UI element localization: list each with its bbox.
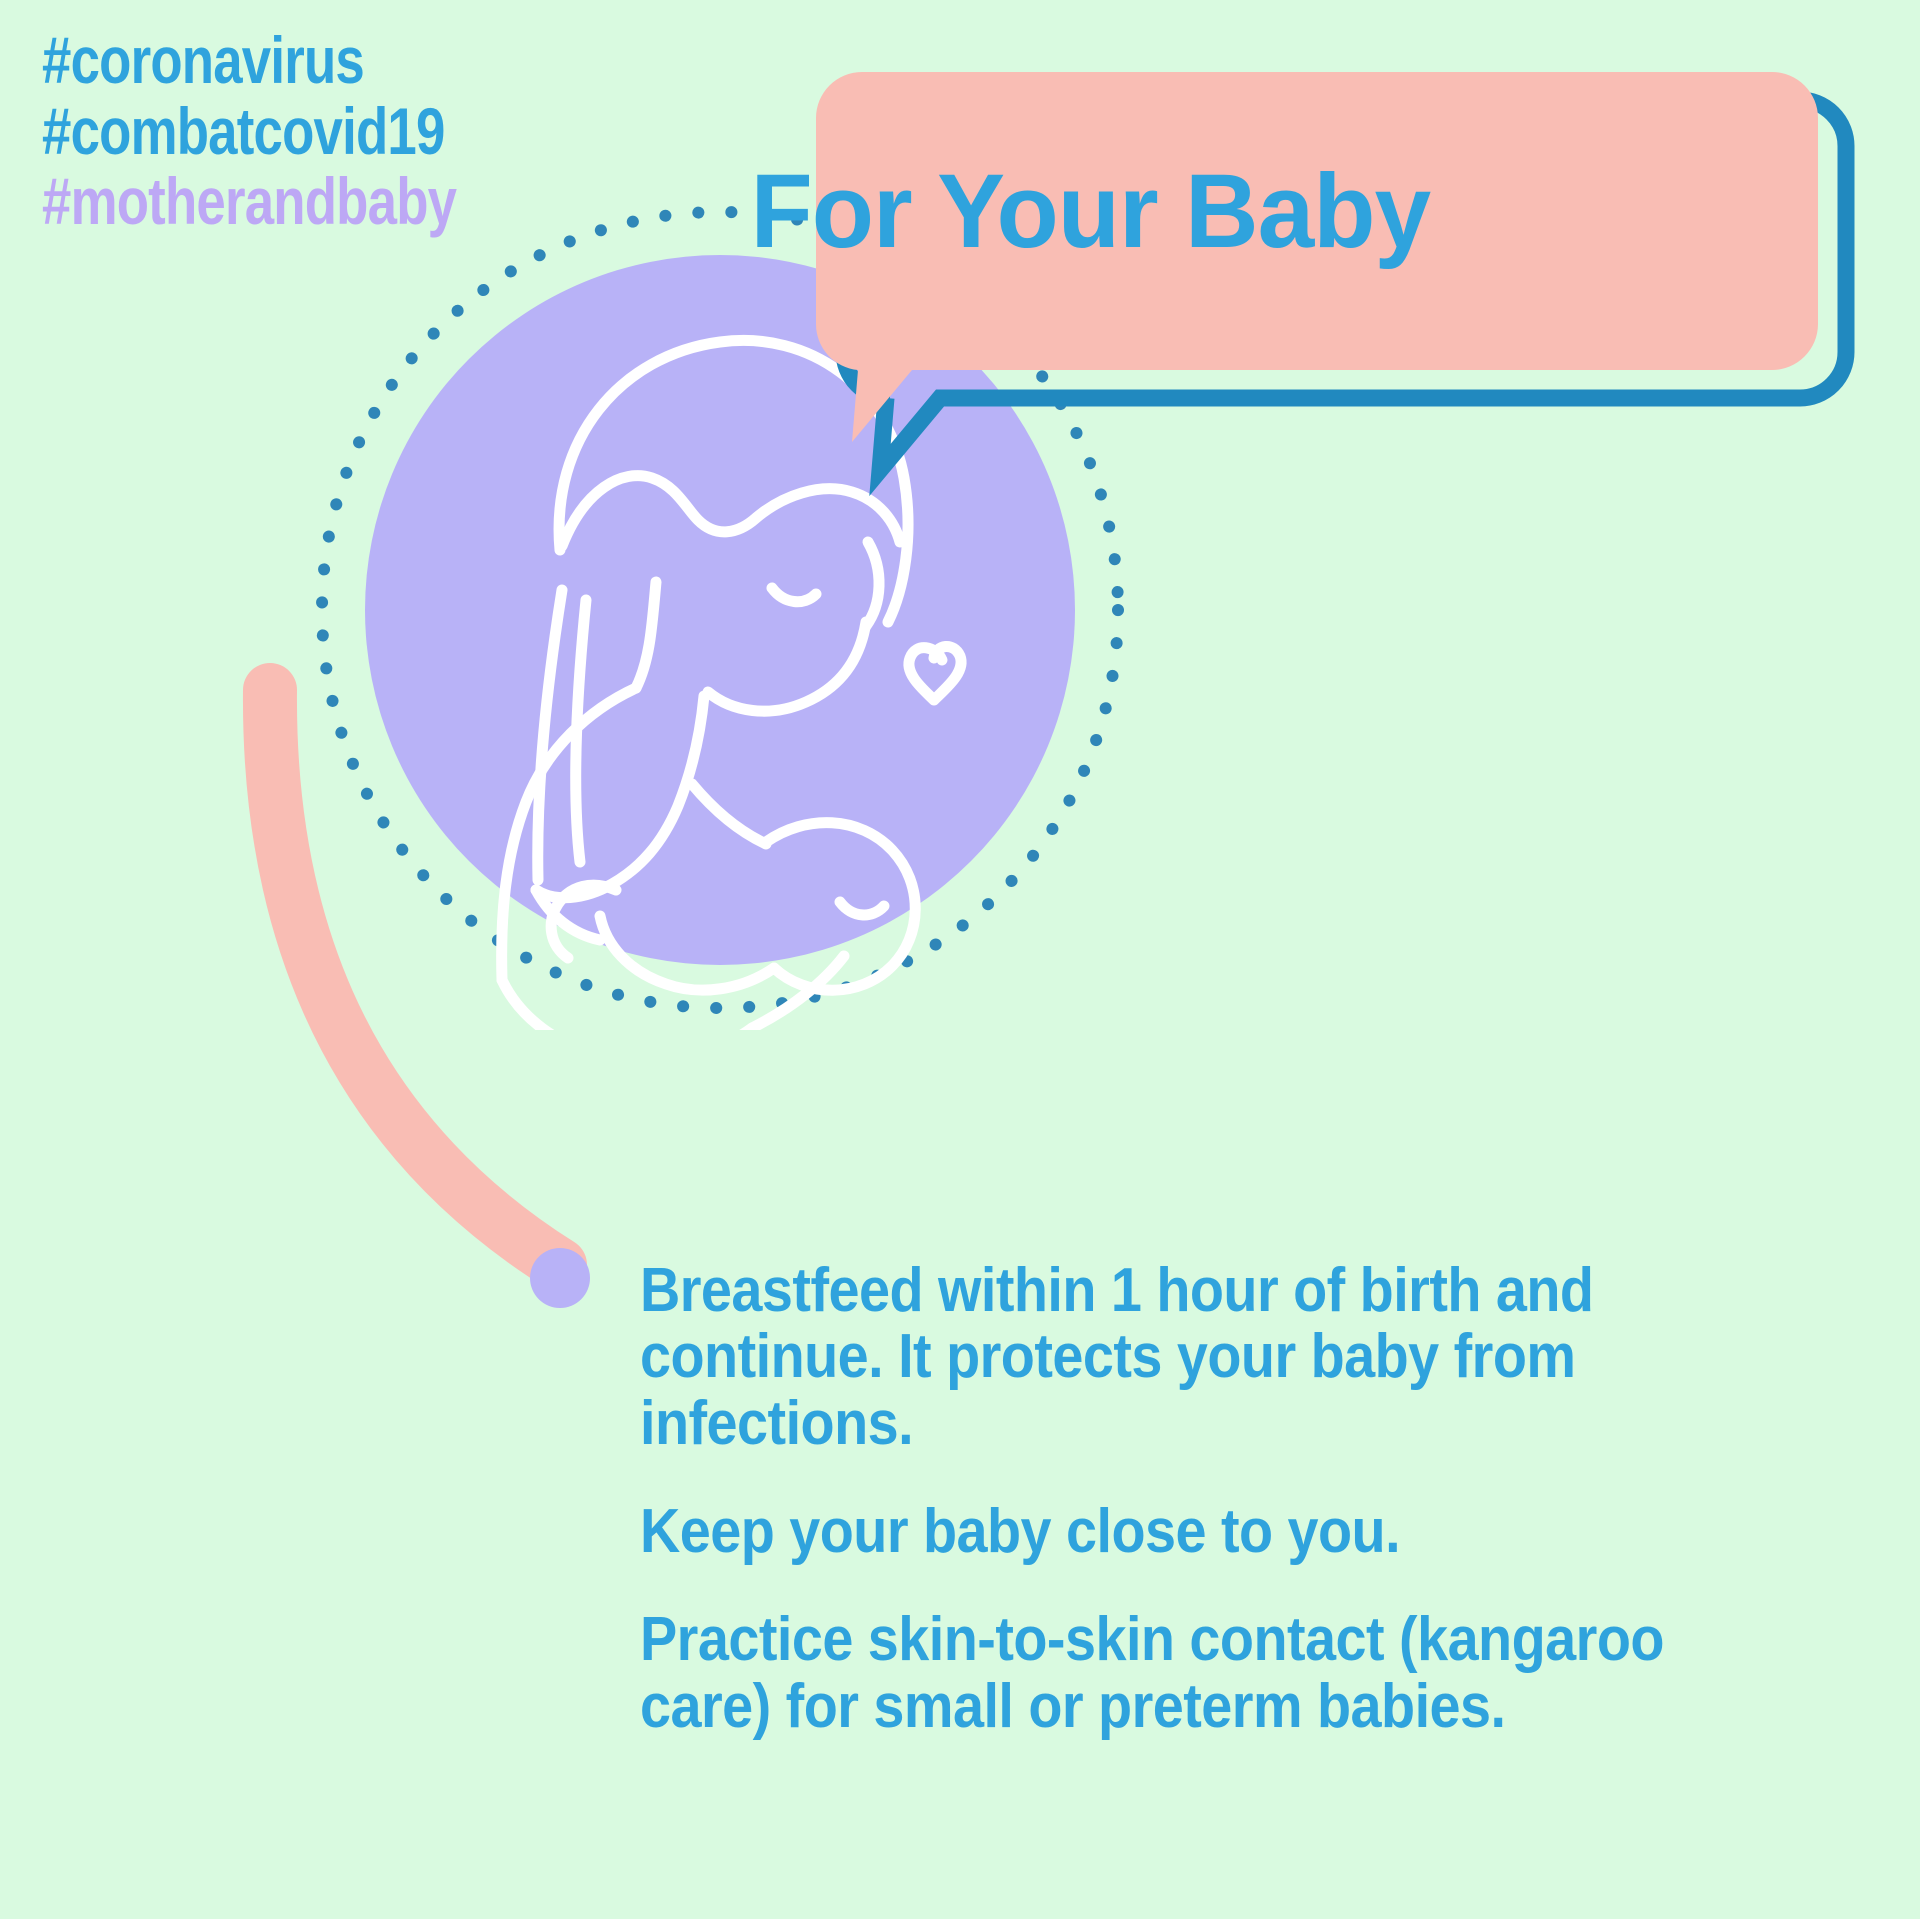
advice-item-breastfeed: Breastfeed within 1 hour of birth and co…	[640, 1258, 1801, 1457]
hashtag-combatcovid19[interactable]: #combatcovid19	[42, 99, 456, 164]
hashtag-group: #coronavirus #combatcovid19 #motherandba…	[42, 28, 560, 240]
hashtag-motherandbaby[interactable]: #motherandbaby	[42, 169, 456, 234]
hashtag-coronavirus[interactable]: #coronavirus	[42, 28, 456, 93]
advice-item-keep-close: Keep your baby close to you.	[640, 1499, 1801, 1565]
advice-list: Breastfeed within 1 hour of birth and co…	[640, 1258, 1820, 1740]
advice-item-skin-to-skin: Practice skin-to-skin contact (kangaroo …	[640, 1607, 1801, 1740]
purple-bullet-dot	[520, 1238, 600, 1318]
lavender-circle	[365, 255, 1075, 965]
page-title: For Your Baby	[751, 152, 1430, 272]
poster-canvas: For Your Baby #coronavirus #combatcovid1…	[0, 0, 1920, 1919]
illustration-mother-and-baby	[300, 190, 1140, 1030]
